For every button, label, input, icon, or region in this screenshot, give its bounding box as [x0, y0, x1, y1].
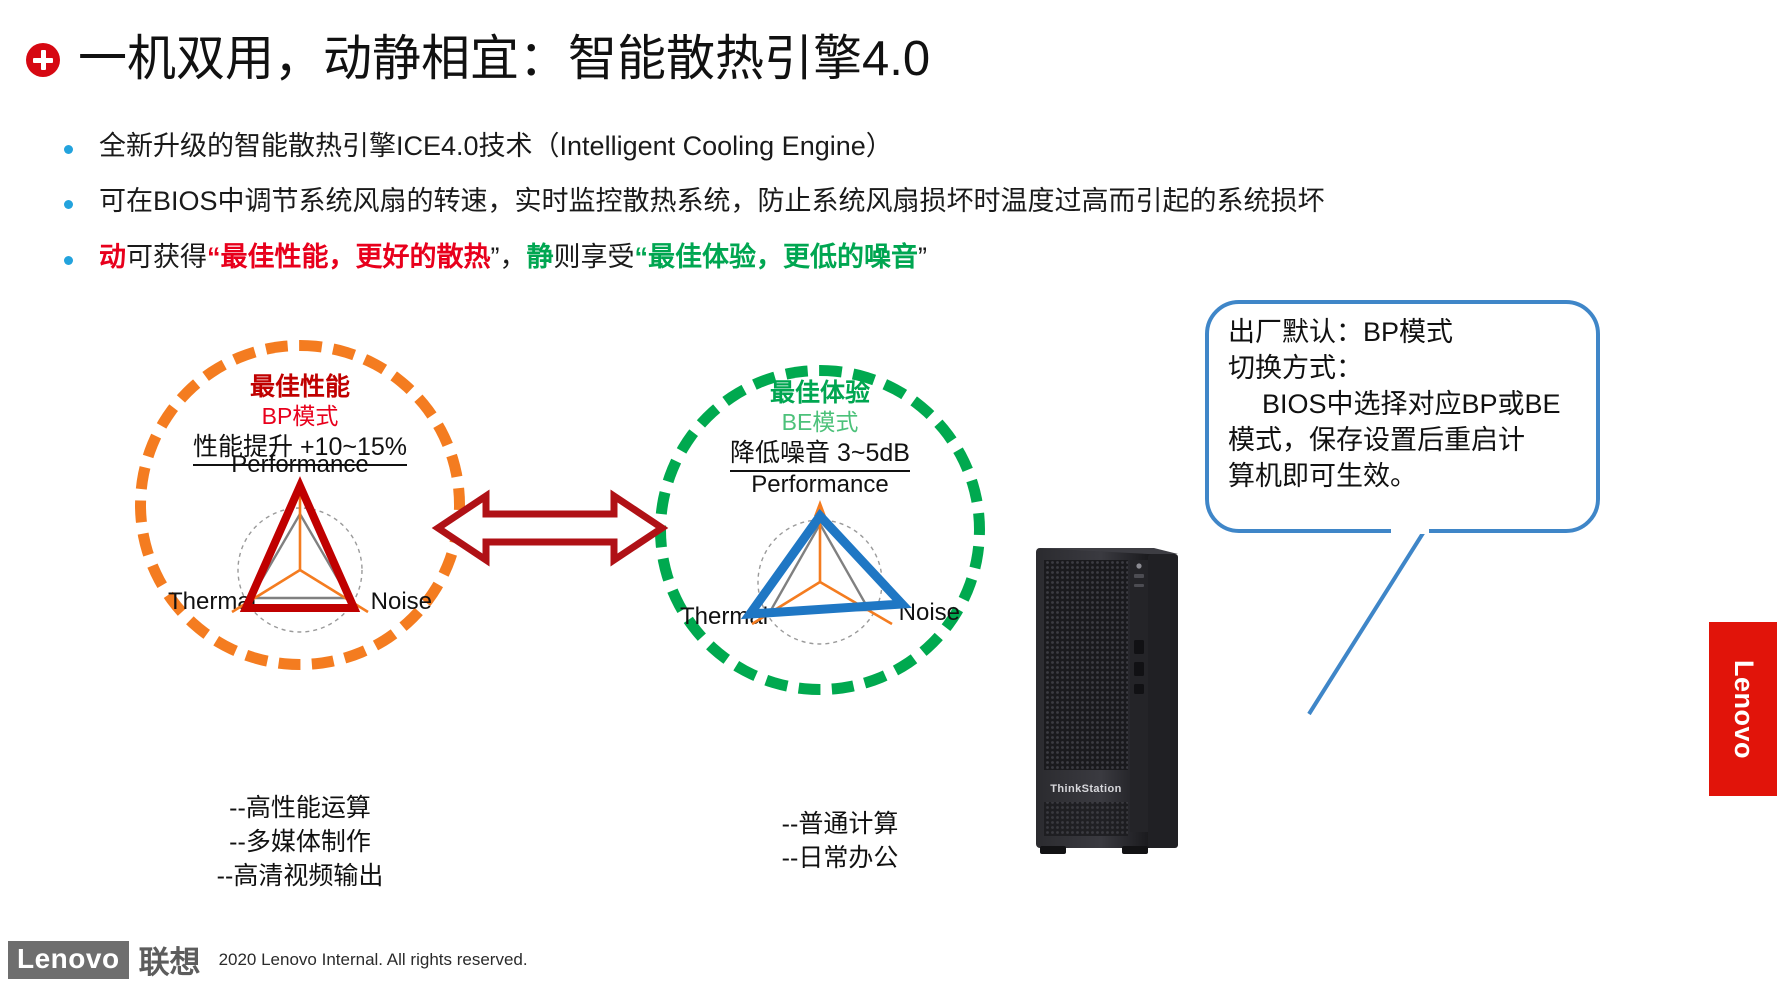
callout-tail — [1275, 524, 1465, 724]
axis-label-noise: Noise — [899, 599, 960, 626]
lenovo-side-logo-text: Lenovo — [1728, 659, 1759, 758]
list-item: 可在BIOS中调节系统风扇的转速，实时监控散热系统，防止系统风扇损坏时温度过高而… — [64, 183, 1464, 220]
list-item: 动可获得“最佳性能，更好的散热”，静则享受“最佳体验，更低的噪音” — [64, 239, 1464, 276]
bullet-segment: ， — [500, 242, 527, 272]
bp-radar-chart: Performance Thermal Noise — [120, 452, 480, 642]
bullet-segment: ” — [491, 242, 500, 272]
callout-text: 出厂默认：BP模式 切换方式： BIOS中选择对应BP或BE 模式，保存设置后重… — [1228, 315, 1598, 495]
be-radar-chart: Performance Thermal Noise — [640, 462, 1000, 652]
bullet-segment: “ — [635, 242, 649, 272]
caption-line: --多媒体制作 — [150, 826, 450, 860]
svg-text:ThinkStation: ThinkStation — [1050, 783, 1121, 795]
callout-line: 算机即可生效。 — [1228, 459, 1598, 495]
footer: Lenovo 联想 2020 Lenovo Internal. All righ… — [8, 937, 528, 982]
caption-line: --日常办公 — [690, 842, 990, 876]
bullet-dot-icon — [64, 145, 73, 154]
lenovo-logo-cn: 联想 — [139, 937, 201, 982]
plus-circle-icon — [26, 43, 60, 77]
lenovo-side-logo: Lenovo — [1709, 622, 1777, 796]
caption-line: --高清视频输出 — [150, 860, 450, 894]
bp-captions: --高性能运算 --多媒体制作 --高清视频输出 — [150, 792, 450, 893]
callout-line: BIOS中选择对应BP或BE — [1228, 387, 1598, 423]
bullet-text: 全新升级的智能散热引擎ICE4.0技术（Intelligent Cooling … — [99, 128, 893, 165]
list-item: 全新升级的智能散热引擎ICE4.0技术（Intelligent Cooling … — [64, 128, 1464, 165]
be-title: 最佳体验 — [655, 378, 985, 408]
bullet-dot-icon — [64, 200, 73, 209]
bullet-segment: ” — [918, 242, 927, 272]
bullet-dot-icon — [64, 256, 73, 265]
be-subtitle: BE模式 — [655, 408, 985, 437]
bullet-segment: 动 — [99, 242, 126, 272]
double-arrow-icon — [430, 482, 670, 574]
slide-canvas: 一机双用，动静相宜：智能散热引擎4.0 全新升级的智能散热引擎ICE4.0技术（… — [0, 0, 1777, 1000]
axis-label-performance: Performance — [751, 471, 888, 498]
lenovo-logo: Lenovo — [8, 941, 129, 979]
callout-line: 模式，保存设置后重启计 — [1228, 423, 1598, 459]
bullet-text-rich: 动可获得“最佳性能，更好的散热”，静则享受“最佳体验，更低的噪音” — [99, 239, 927, 276]
thinkstation-tower-image: ThinkStation — [1030, 540, 1190, 860]
callout-line: 出厂默认：BP模式 — [1228, 315, 1598, 351]
caption-line: --高性能运算 — [150, 792, 450, 826]
bullet-segment: 最佳体验，更低的噪音 — [648, 242, 918, 272]
page-title: 一机双用，动静相宜：智能散热引擎4.0 — [26, 34, 930, 85]
bullet-segment: “ — [207, 242, 221, 272]
title-text: 一机双用，动静相宜：智能散热引擎4.0 — [78, 34, 930, 85]
bullet-text: 可在BIOS中调节系统风扇的转速，实时监控散热系统，防止系统风扇损坏时温度过高而… — [99, 183, 1325, 220]
axis-label-performance: Performance — [231, 452, 368, 478]
callout-line: 切换方式： — [1228, 351, 1598, 387]
bullet-segment: 最佳性能，更好的散热 — [221, 242, 491, 272]
bullet-list: 全新升级的智能散热引擎ICE4.0技术（Intelligent Cooling … — [64, 128, 1464, 294]
bp-title: 最佳性能 — [135, 372, 465, 402]
caption-line: --普通计算 — [690, 808, 990, 842]
bullet-segment: 可获得 — [126, 242, 207, 272]
copyright-text: 2020 Lenovo Internal. All rights reserve… — [219, 950, 528, 970]
bullet-segment: 则享受 — [554, 242, 635, 272]
bullet-segment: 静 — [527, 242, 554, 272]
axis-label-noise: Noise — [371, 588, 432, 615]
be-mode-header: 最佳体验 BE模式 降低噪音 3~5dB — [655, 378, 985, 472]
bp-subtitle: BP模式 — [135, 402, 465, 431]
be-captions: --普通计算 --日常办公 — [690, 808, 990, 876]
